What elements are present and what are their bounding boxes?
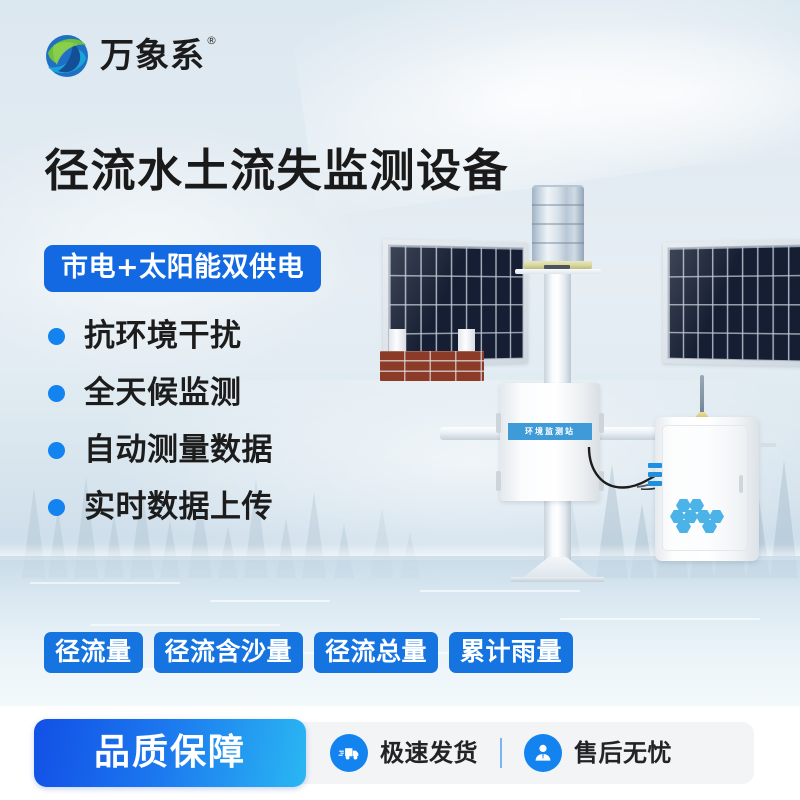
- feature-item: 全天候监测: [48, 378, 273, 409]
- trust-item-list: 极速发货 售后无忧: [330, 722, 672, 784]
- antenna-rod: [700, 375, 704, 415]
- enclosure-nameplate: 环境监测站: [508, 423, 592, 440]
- brand-logo: 万象系 ®: [44, 33, 205, 79]
- power-supply-badge: 市电+太阳能双供电: [44, 245, 321, 292]
- cabinet-handle: [739, 475, 743, 493]
- registered-trademark-icon: ®: [206, 35, 218, 46]
- trust-item-label: 极速发货: [380, 741, 478, 765]
- solar-cell-grid: [388, 245, 523, 362]
- product-photo-assembly: 环境监测站: [380, 185, 800, 645]
- equipment-cabinet: [655, 417, 759, 561]
- bullet-dot-icon: [48, 442, 65, 459]
- brand-name: 万象系 ®: [100, 39, 205, 73]
- trust-bar-divider: [500, 738, 502, 768]
- quality-guarantee-badge: 品质保障: [34, 719, 306, 787]
- feature-item: 抗环境干扰: [48, 321, 273, 352]
- trust-item-fast-shipping: 极速发货: [330, 734, 478, 772]
- feature-item: 自动测量数据: [48, 435, 273, 466]
- hexagon-decal-group: [670, 499, 726, 533]
- bullet-dot-icon: [48, 385, 65, 402]
- brand-name-text: 万象系: [100, 36, 205, 76]
- trust-item-label: 售后无忧: [574, 741, 672, 765]
- rain-gauge-mount-plate: [515, 269, 601, 274]
- feature-item: 实时数据上传: [48, 492, 273, 523]
- page-title: 径流水土流失监测设备: [44, 148, 509, 193]
- customer-service-person-icon: [524, 734, 562, 772]
- measurement-tag: 累计雨量: [449, 632, 573, 673]
- pole-base-plate: [511, 577, 604, 582]
- cabinet-side-bracket: [759, 443, 776, 447]
- quality-guarantee-label: 品质保障: [94, 735, 246, 771]
- feature-label: 全天候监测: [84, 378, 242, 409]
- measurement-tag-list: 径流量 径流含沙量 径流总量 累计雨量: [44, 632, 573, 673]
- measurement-tag: 径流总量: [314, 632, 438, 673]
- rain-gauge-cylinder: [532, 185, 584, 262]
- product-promo-poster: 环境监测站: [0, 0, 800, 800]
- feature-label: 实时数据上传: [84, 492, 273, 523]
- enclosure-label-text: 环境监测站: [525, 428, 575, 436]
- feature-list: 抗环境干扰 全天候监测 自动测量数据 实时数据上传: [48, 321, 273, 523]
- solar-cell-grid: [668, 245, 800, 362]
- bullet-dot-icon: [48, 499, 65, 516]
- trust-item-after-sales: 售后无忧: [524, 734, 672, 772]
- delivery-truck-icon: [330, 734, 368, 772]
- sphere-swirl-logo-icon: [44, 33, 90, 79]
- brick-foundation: [380, 351, 484, 381]
- measurement-tag: 径流量: [44, 632, 143, 673]
- feature-label: 自动测量数据: [84, 435, 273, 466]
- bullet-dot-icon: [48, 328, 65, 345]
- measurement-tag: 径流含沙量: [154, 632, 304, 673]
- solar-panel-right: [663, 239, 800, 366]
- feature-label: 抗环境干扰: [84, 321, 242, 352]
- pole-base-cone: [521, 557, 594, 579]
